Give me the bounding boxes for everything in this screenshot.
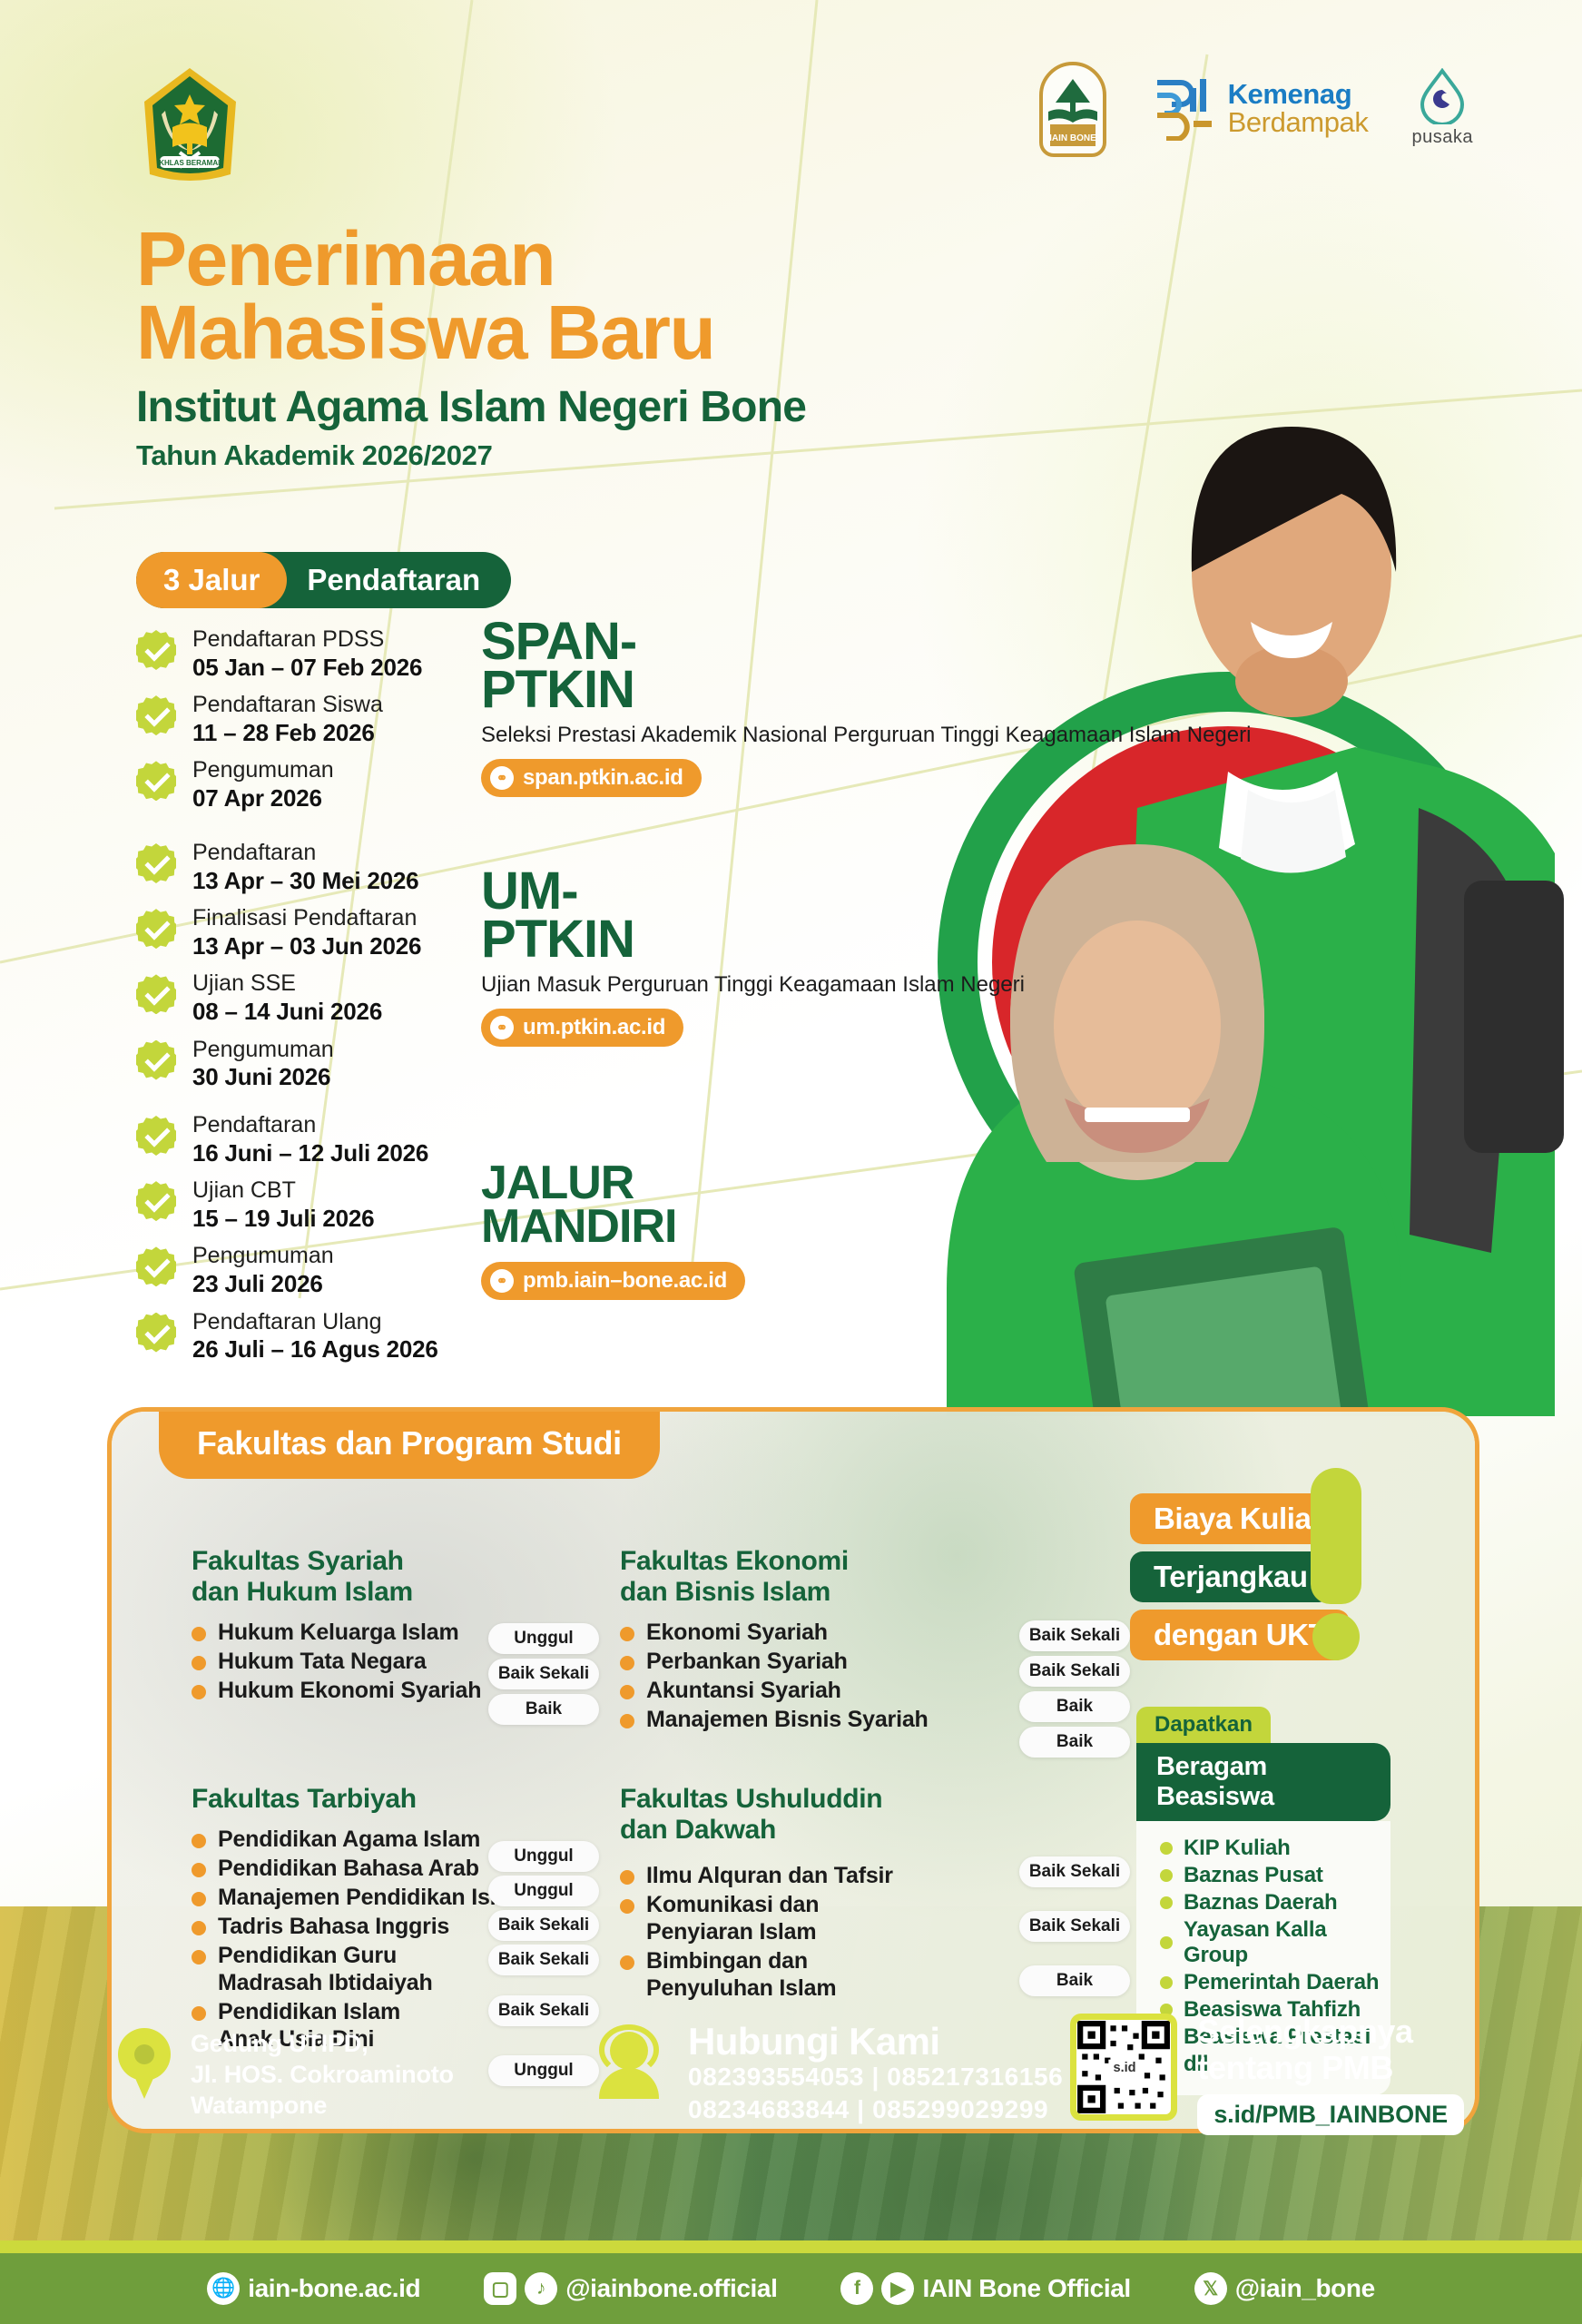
program-name: Pendidikan Agama Islam [218,1826,480,1853]
footer-qr[interactable]: s.id Selengkapnya tentang PMB s.id/PMB_I… [1070,2014,1464,2134]
check-icon [136,630,176,670]
social-website[interactable]: 🌐 iain-bone.ac.id [207,2272,420,2305]
link-icon: ⚭ [490,1269,514,1293]
schedule-label: Ujian CBT [192,1177,374,1205]
akreditasi-badge: Baik [1019,1691,1130,1722]
check-icon [136,695,176,735]
x-twitter-icon: 𝕏 [1194,2272,1227,2305]
schedule-item: Finalisasi Pendaftaran 13 Apr – 03 Jun 2… [136,905,421,960]
schedule-date: 23 Juli 2026 [192,1270,334,1298]
faculty-name-line-1: Fakultas Tarbiyah [192,1784,417,1814]
program-item: Manajemen Bisnis Syariah [620,1706,1046,1733]
schedule-label: Finalisasi Pendaftaran [192,905,421,932]
akreditasi-badge: Baik Sekali [1019,1620,1130,1651]
faculty-name-line-1: Fakultas Syariah [192,1546,404,1576]
pathway-url-text: um.ptkin.ac.id [523,1015,665,1040]
short-url-badge[interactable]: s.id/PMB_IAINBONE [1197,2094,1464,2135]
qr-code-frame[interactable]: s.id [1070,2014,1177,2121]
faculty-name-line-1: Fakultas Ushuluddin [620,1784,882,1814]
schedule-date: 08 – 14 Juni 2026 [192,998,382,1026]
bullet-icon [620,1685,634,1699]
x-handle: @iain_bone [1235,2274,1375,2303]
program-name: Perbankan Syariah [646,1648,848,1675]
schedule-label: Pengumuman [192,757,334,784]
address-line-2: Jl. HOS. Cokroaminoto [191,2059,454,2090]
tiktok-icon: ♪ [525,2272,557,2305]
pathway-name-line-2: PTKIN [481,665,1251,714]
bullet-icon [620,1627,634,1641]
schedule-date: 13 Apr – 30 Mei 2026 [192,867,418,895]
social-bar-divider [0,2240,1582,2253]
faculty-name-line-1: Fakultas Ekonomi [620,1546,849,1576]
program-item: Ekonomi Syariah [620,1619,1046,1646]
headline-line-1: Penerimaan [136,222,806,296]
akreditasi-syariah: Unggul Baik Sekali Baik [488,1623,599,1725]
schedule-date: 26 Juli – 16 Agus 2026 [192,1335,438,1364]
iain-bone-logo-icon: IAIN BONE [1036,59,1110,157]
bullet-icon [192,1892,206,1906]
location-pin-icon [118,2028,171,2101]
pusaka-logo: pusaka [1412,68,1474,148]
schedule-label: Pendaftaran [192,840,418,867]
check-icon [136,843,176,883]
facebook-handle: IAIN Bone Official [922,2274,1130,2303]
program-name: Hukum Tata Negara [218,1648,427,1675]
check-icon [136,761,176,801]
schedule-label: Ujian SSE [192,970,382,998]
kemenag-label: Kemenag [1228,80,1369,108]
social-instagram-tiktok[interactable]: ▢ ♪ @iainbone.official [484,2272,777,2305]
ukt-block: Biaya Kuliah Terjangkau dengan UKT [1130,1493,1352,1668]
schedule-um-ptkin: Pendaftaran 13 Apr – 30 Mei 2026 Finalis… [136,840,421,1102]
more-info-line-2: tentang PMB [1197,2050,1464,2086]
beasiswa-heading: Beragam Beasiswa [1136,1743,1390,1821]
faculty-name-line-2: dan Hukum Islam [192,1577,413,1607]
globe-icon: 🌐 [207,2272,240,2305]
check-icon [136,1313,176,1353]
faculty-name-line-2: dan Bisnis Islam [620,1577,830,1607]
headline-block: Penerimaan Mahasiswa Baru Institut Agama… [136,222,806,472]
schedule-label: Pendaftaran PDSS [192,626,422,654]
footer-contact-row: Gedung UTIPD, Jl. HOS. Cokroaminoto Wata… [0,1906,1582,2242]
schedule-item: Pendaftaran Ulang 26 Juli – 16 Agus 2026 [136,1309,438,1364]
pathway-name-line-1: UM- [481,867,1025,915]
akreditasi-badge: Unggul [488,1623,599,1654]
social-x[interactable]: 𝕏 @iain_bone [1194,2272,1375,2305]
jalur-badge: 3 Jalur Pendaftaran [136,552,511,608]
pathway-name-line-1: JALUR [481,1162,745,1206]
contact-line-2: 08234683844 | 085299029299 [688,2093,1063,2126]
schedule-item: Pengumuman 23 Juli 2026 [136,1243,438,1297]
schedule-date: 16 Juni – 12 Juli 2026 [192,1139,428,1167]
schedule-label: Pendaftaran Siswa [192,692,383,719]
program-name: Hukum Keluarga Islam [218,1619,459,1646]
website-label: iain-bone.ac.id [248,2274,420,2303]
schedule-date: 30 Juni 2026 [192,1063,334,1091]
bullet-icon [192,1656,206,1670]
contact-title: Hubungi Kami [688,2023,1063,2061]
pathway-url-span[interactable]: ⚭ span.ptkin.ac.id [481,759,702,797]
social-facebook-youtube[interactable]: f ▶ IAIN Bone Official [840,2272,1130,2305]
facebook-icon: f [840,2272,873,2305]
svg-text:IAIN BONE: IAIN BONE [1049,133,1096,143]
program-name: Hukum Ekonomi Syariah [218,1677,481,1704]
bullet-icon [1160,1842,1173,1855]
jalur-label: Pendaftaran [287,563,480,597]
pathway-name-line-2: PTKIN [481,915,1025,963]
schedule-item: Ujian CBT 15 – 19 Juli 2026 [136,1177,438,1232]
pathway-jalur-mandiri: JALUR MANDIRI ⚭ pmb.iain–bone.ac.id [481,1162,745,1300]
youtube-icon: ▶ [881,2272,914,2305]
schedule-item: Pendaftaran PDSS 05 Jan – 07 Feb 2026 [136,626,422,681]
akreditasi-badge: Baik [1019,1727,1130,1758]
berdampak-label: Berdampak [1228,108,1369,136]
beasiswa-item: KIP Kuliah [1160,1836,1380,1861]
jalur-count: 3 Jalur [136,552,287,608]
schedule-label: Pengumuman [192,1243,334,1270]
schedule-label: Pendaftaran [192,1112,428,1139]
pathway-description: Ujian Masuk Perguruan Tinggi Keagamaan I… [481,973,1025,998]
bullet-icon [620,1714,634,1728]
bullet-icon [620,1656,634,1670]
kemenag-berdampak-icon [1154,75,1217,141]
academic-year: Tahun Akademik 2026/2027 [136,439,806,472]
pathway-url-mandiri[interactable]: ⚭ pmb.iain–bone.ac.id [481,1262,745,1300]
institution-name: Institut Agama Islam Negeri Bone [136,383,806,432]
pathway-span-ptkin: SPAN- PTKIN Seleksi Prestasi Akademik Na… [481,617,1251,797]
pmb-poster: IKHLAS BERAMAL IAIN BONE Ke [0,0,1582,2324]
instagram-handle: @iainbone.official [565,2274,777,2303]
bullet-icon [192,1834,206,1848]
address-line-1: Gedung UTIPD, [191,2028,454,2059]
program-item: Akuntansi Syariah [620,1677,1046,1704]
akreditasi-ekonomi: Baik Sekali Baik Sekali Baik Baik [1019,1620,1130,1758]
footer-contact: Hubungi Kami 082393554053 | 085217316156… [590,2023,1070,2127]
schedule-label: Pendaftaran Ulang [192,1309,438,1336]
program-name: Akuntansi Syariah [646,1677,841,1704]
students-photo [838,300,1582,1416]
kemenag-berdampak-logo: Kemenag Berdampak [1154,75,1369,141]
schedule-item: Pendaftaran 16 Juni – 12 Juli 2026 [136,1112,438,1167]
check-icon [136,1116,176,1156]
schedule-item: Ujian SSE 08 – 14 Juni 2026 [136,970,421,1025]
faculty-ekonomi: Fakultas Ekonomi dan Bisnis Islam Ekonom… [620,1546,1046,1735]
akreditasi-badge: Unggul [488,1876,599,1906]
schedule-item: Pengumuman 07 Apr 2026 [136,757,422,812]
pathway-description: Seleksi Prestasi Akademik Nasional Pergu… [481,724,1251,748]
schedule-date: 11 – 28 Feb 2026 [192,719,383,747]
link-icon: ⚭ [490,766,514,790]
svg-text:IKHLAS BERAMAL: IKHLAS BERAMAL [157,159,222,167]
partner-logos: IAIN BONE Kemenag Berdampak pusaka [1036,59,1473,157]
schedule-date: 05 Jan – 07 Feb 2026 [192,654,422,682]
contact-line-1: 082393554053 | 085217316156 [688,2061,1063,2093]
pathway-name-line-2: MANDIRI [481,1206,745,1249]
bullet-icon [192,1863,206,1877]
schedule-span-ptkin: Pendaftaran PDSS 05 Jan – 07 Feb 2026 Pe… [136,626,422,823]
bullet-icon [192,1685,206,1699]
pathway-um-ptkin: UM- PTKIN Ujian Masuk Perguruan Tinggi K… [481,867,1025,1047]
program-item: Perbankan Syariah [620,1648,1046,1675]
faculties-section-title: Fakultas dan Program Studi [159,1410,660,1479]
kemenag-logo-icon: IKHLAS BERAMAL [138,65,242,183]
link-icon: ⚭ [490,1016,514,1039]
check-icon [136,1040,176,1080]
pusaka-label: pusaka [1412,127,1474,148]
schedule-date: 07 Apr 2026 [192,784,334,812]
social-bar: 🌐 iain-bone.ac.id ▢ ♪ @iainbone.official… [0,2253,1582,2324]
exclamation-mark-icon [1311,1468,1361,1660]
akreditasi-badge: Baik Sekali [1019,1656,1130,1687]
headline-line-2: Mahasiswa Baru [136,296,806,369]
schedule-label: Pengumuman [192,1037,334,1064]
schedule-date: 13 Apr – 03 Jun 2026 [192,932,421,960]
schedule-date: 15 – 19 Juli 2026 [192,1205,374,1233]
schedule-item: Pendaftaran 13 Apr – 30 Mei 2026 [136,840,421,894]
qr-code-icon[interactable]: s.id [1076,2020,1171,2114]
schedule-item: Pengumuman 30 Juni 2026 [136,1037,421,1091]
beasiswa-item-label: Baznas Pusat [1184,1863,1323,1888]
instagram-icon: ▢ [484,2272,516,2305]
program-name: Pendidikan Bahasa Arab [218,1855,479,1882]
bullet-icon [1160,1869,1173,1882]
svg-text:s.id: s.id [1114,2062,1136,2076]
schedule-jalur-mandiri: Pendaftaran 16 Juni – 12 Juli 2026 Ujian… [136,1112,438,1374]
pathway-name-line-1: SPAN- [481,617,1251,665]
program-name: Ekonomi Syariah [646,1619,828,1646]
check-icon [136,1181,176,1221]
program-name: Ilmu Alquran dan Tafsir [646,1862,893,1889]
bullet-icon [620,1870,634,1885]
beasiswa-top-label: Dapatkan [1136,1707,1271,1743]
akreditasi-badge: Unggul [488,1841,599,1872]
check-icon [136,974,176,1014]
ukt-line-2: Terjangkau [1130,1551,1331,1602]
akreditasi-badge: Baik [488,1694,599,1725]
check-icon [136,1246,176,1286]
more-info-line-1: Selengkapnya [1197,2014,1464,2050]
program-item: Ilmu Alquran dan Tafsir [620,1862,1001,1889]
faculty-name-line-2: dan Dakwah [620,1815,776,1845]
akreditasi-badge: Baik Sekali [488,1659,599,1689]
address-line-3: Watampone [191,2090,454,2121]
pathway-url-text: pmb.iain–bone.ac.id [523,1268,727,1294]
program-name: Manajemen Bisnis Syariah [646,1706,929,1733]
footer-address: Gedung UTIPD, Jl. HOS. Cokroaminoto Wata… [118,2028,590,2121]
pathway-url-um[interactable]: ⚭ um.ptkin.ac.id [481,1009,683,1047]
beasiswa-item-label: KIP Kuliah [1184,1836,1291,1861]
akreditasi-badge: Baik Sekali [1019,1856,1130,1887]
bullet-icon [192,1627,206,1641]
pusaka-droplet-icon [1419,68,1466,124]
schedule-item: Pendaftaran Siswa 11 – 28 Feb 2026 [136,692,422,746]
check-icon [136,909,176,949]
headset-support-icon [590,2023,668,2101]
beasiswa-item: Baznas Pusat [1160,1863,1380,1888]
pathway-url-text: span.ptkin.ac.id [523,765,683,791]
